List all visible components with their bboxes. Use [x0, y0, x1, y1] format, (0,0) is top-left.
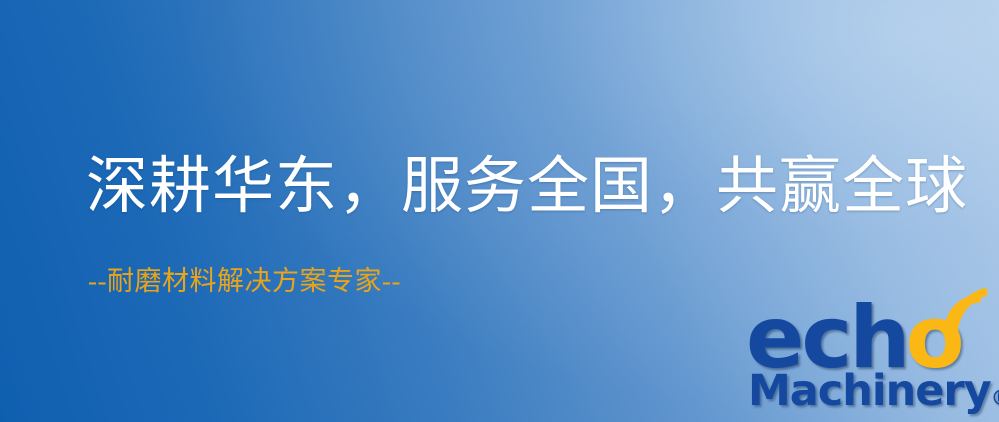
banner-subheadline: --耐磨材料解决方案专家-- — [88, 264, 401, 298]
echo-signal-waves-icon — [941, 285, 987, 337]
logo-wordmark-text: ech — [746, 303, 908, 374]
registered-trademark-icon: ® — [991, 386, 999, 410]
echo-machinery-logo[interactable]: ech o Machinery® — [742, 294, 999, 422]
logo-subname: Machinery® — [748, 370, 999, 413]
logo-subname-text: Machinery — [748, 366, 991, 416]
banner-headline: 深耕华东，服务全国，共赢全球 — [86, 148, 968, 226]
logo-wordmark: ech o — [746, 290, 963, 374]
hero-banner: 深耕华东，服务全国，共赢全球 --耐磨材料解决方案专家-- ech o Mach… — [0, 0, 999, 422]
logo-o-group: o — [906, 303, 963, 374]
